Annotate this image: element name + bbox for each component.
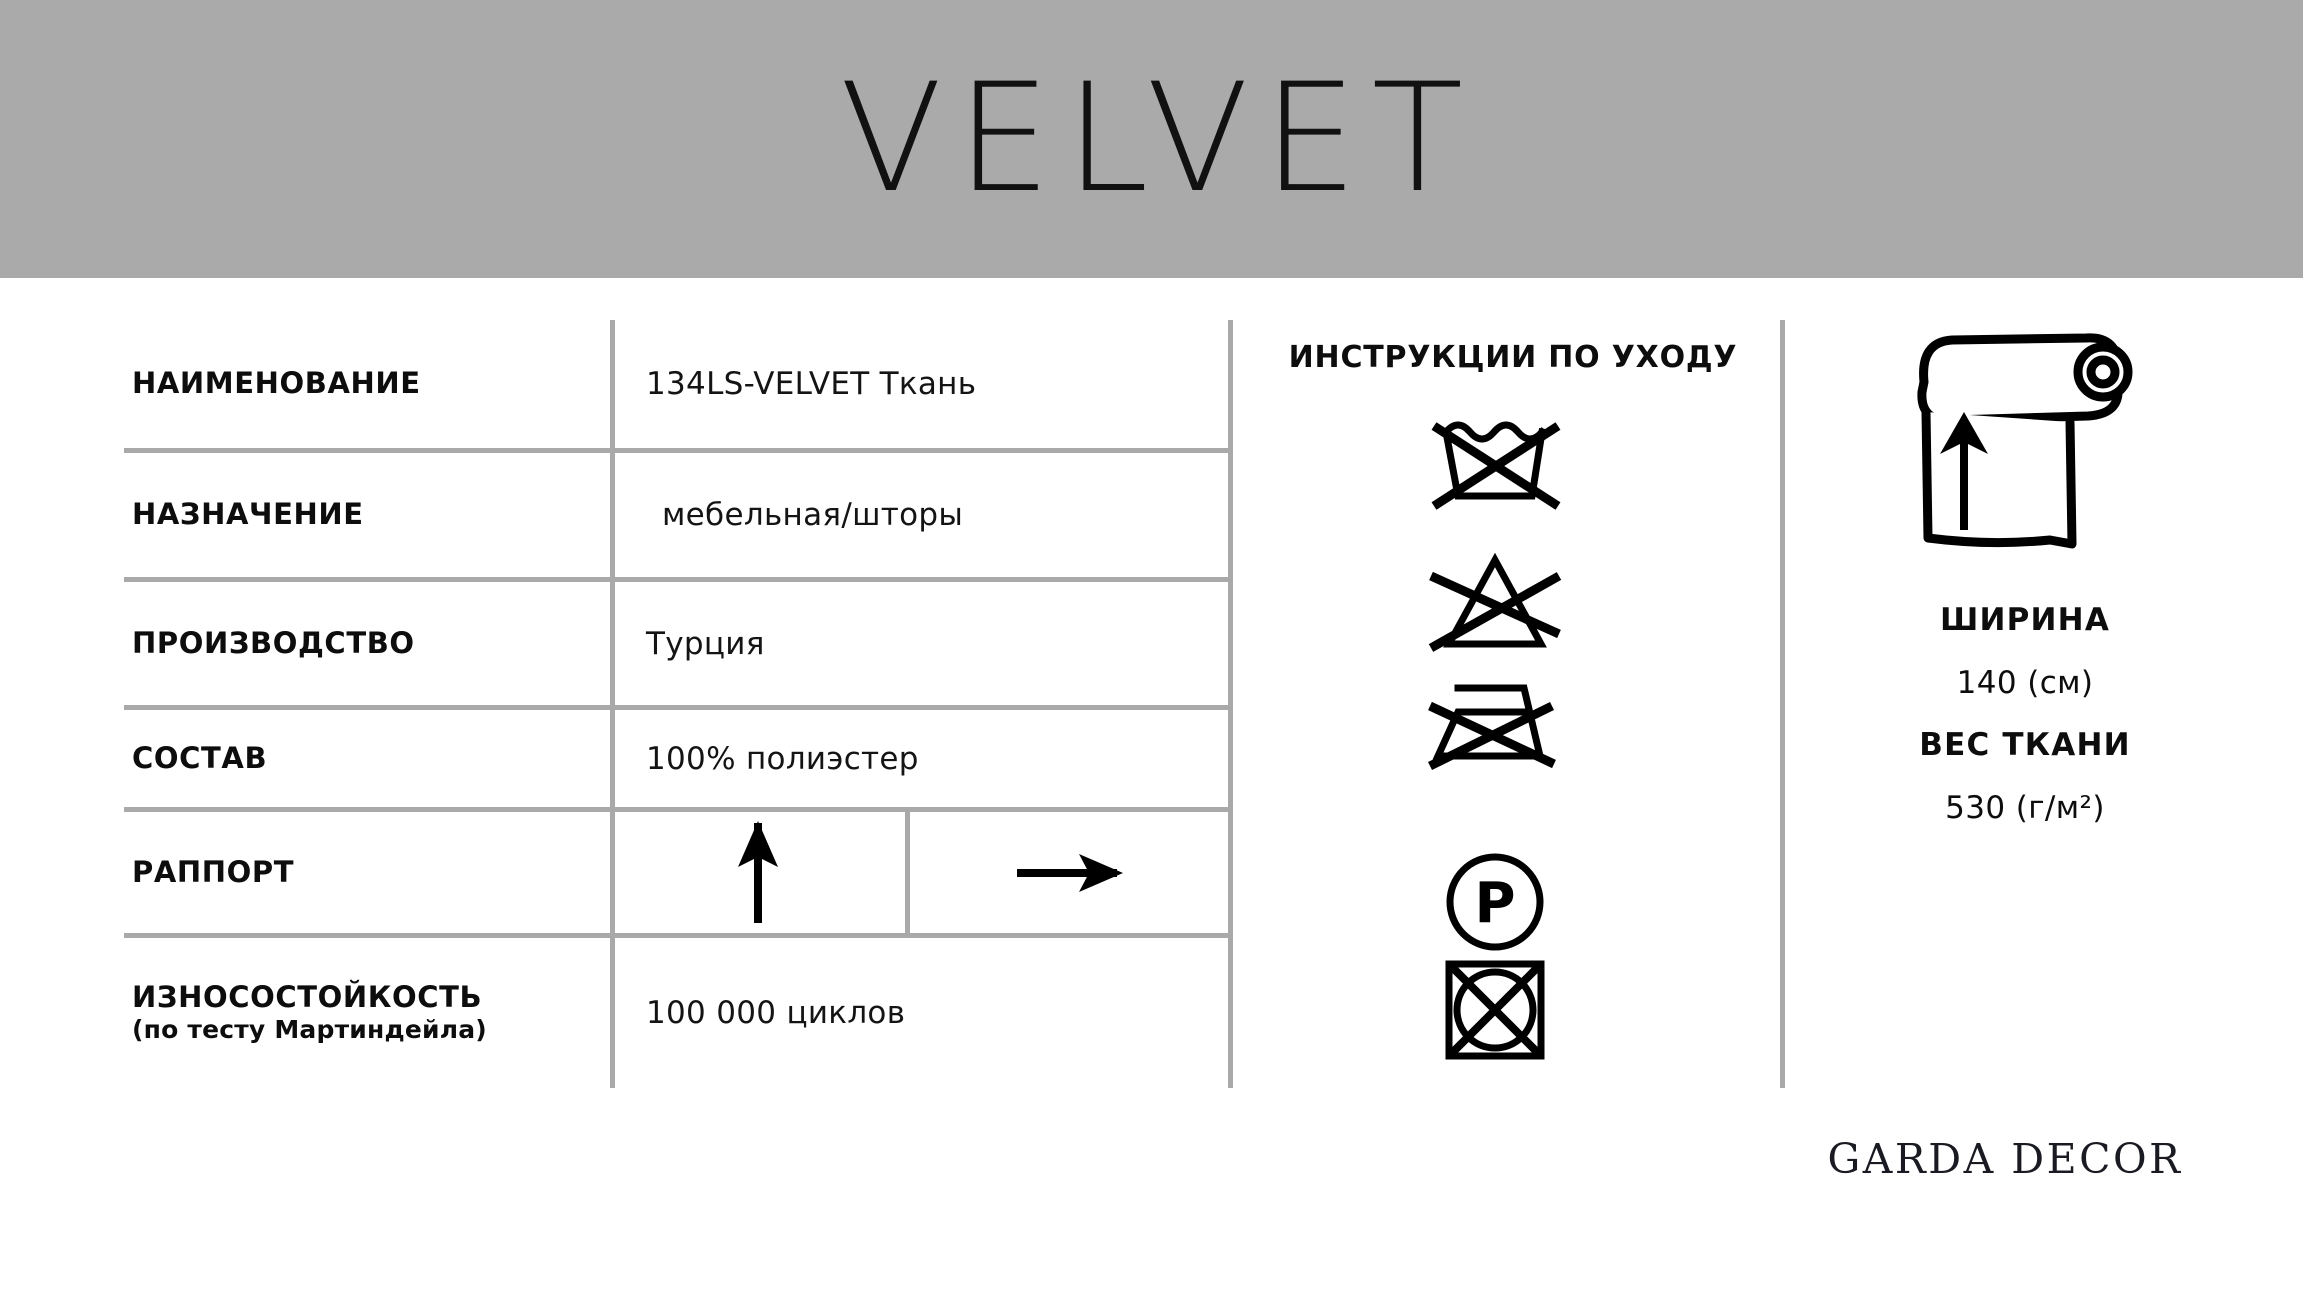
row-value: 134LS-VELVET Ткань — [610, 366, 1228, 402]
row-label: НАЗНАЧЕНИЕ — [124, 497, 610, 532]
care-symbol-slot: P — [1390, 850, 1600, 954]
table-row: ПРОИЗВОДСТВО Турция — [124, 582, 1228, 705]
row-label: ИЗНОСОСТОЙКОСТЬ (по тесту Мартиндейла) — [124, 980, 610, 1046]
row-label: ПРОИЗВОДСТВО — [124, 626, 610, 661]
row-label: СОСТАВ — [124, 741, 610, 776]
width-label: ШИРИНА — [1830, 602, 2220, 638]
do-not-wash-icon — [1420, 410, 1570, 516]
arrow-right-icon — [1013, 845, 1125, 901]
row-label: РАППОРТ — [124, 855, 610, 890]
table-row: ИЗНОСОСТОЙКОСТЬ (по тесту Мартиндейла) 1… — [124, 938, 1228, 1088]
table-row: СОСТАВ 100% полиэстер — [124, 710, 1228, 807]
rapport-vertical-cell — [610, 812, 905, 933]
do-not-tumble-dry-icon — [1443, 958, 1547, 1062]
arrow-up-icon — [731, 819, 785, 927]
spec-table: НАИМЕНОВАНИЕ 134LS-VELVET Ткань НАЗНАЧЕН… — [124, 320, 1232, 1088]
row-value: Турция — [610, 626, 1228, 662]
page-title: VELVET — [0, 0, 2303, 278]
fabric-spec-sheet: VELVET НАИМЕНОВАНИЕ 134LS-VELVET Ткань Н… — [0, 0, 2303, 1299]
do-not-iron-icon — [1420, 678, 1570, 774]
weight-value: 530 (г/м²) — [1830, 790, 2220, 826]
svg-text:P: P — [1474, 871, 1515, 936]
care-instructions-title: ИНСТРУКЦИИ ПО УХОДУ — [1278, 340, 1748, 375]
row-value: 100% полиэстер — [610, 741, 1228, 777]
row-value: мебельная/шторы — [610, 497, 1228, 533]
row-label-main: ИЗНОСОСТОЙКОСТЬ — [132, 980, 482, 1014]
care-symbol-slot — [1390, 552, 1600, 656]
table-right-divider — [1228, 320, 1233, 1088]
brand-logo: GARDA DECOR — [1795, 1135, 2215, 1183]
fabric-roll-icon — [1890, 330, 2160, 575]
row-label: НАИМЕНОВАНИЕ — [124, 366, 610, 401]
rapport-horizontal-cell — [910, 812, 1228, 933]
row-label-sub: (по тесту Мартиндейла) — [132, 1015, 610, 1046]
dry-clean-p-icon: P — [1443, 850, 1547, 954]
care-symbol-slot — [1390, 410, 1600, 516]
weight-label: ВЕС ТКАНИ — [1830, 727, 2220, 763]
table-row: НАЗНАЧЕНИЕ мебельная/шторы — [124, 453, 1228, 577]
row-value: 100 000 циклов — [610, 995, 1228, 1031]
care-symbol-slot — [1390, 958, 1600, 1062]
do-not-bleach-icon — [1419, 552, 1571, 656]
table-row: НАИМЕНОВАНИЕ 134LS-VELVET Ткань — [124, 320, 1228, 448]
width-value: 140 (см) — [1830, 665, 2220, 701]
right-section-divider — [1780, 320, 1785, 1088]
care-symbol-slot — [1390, 678, 1600, 774]
